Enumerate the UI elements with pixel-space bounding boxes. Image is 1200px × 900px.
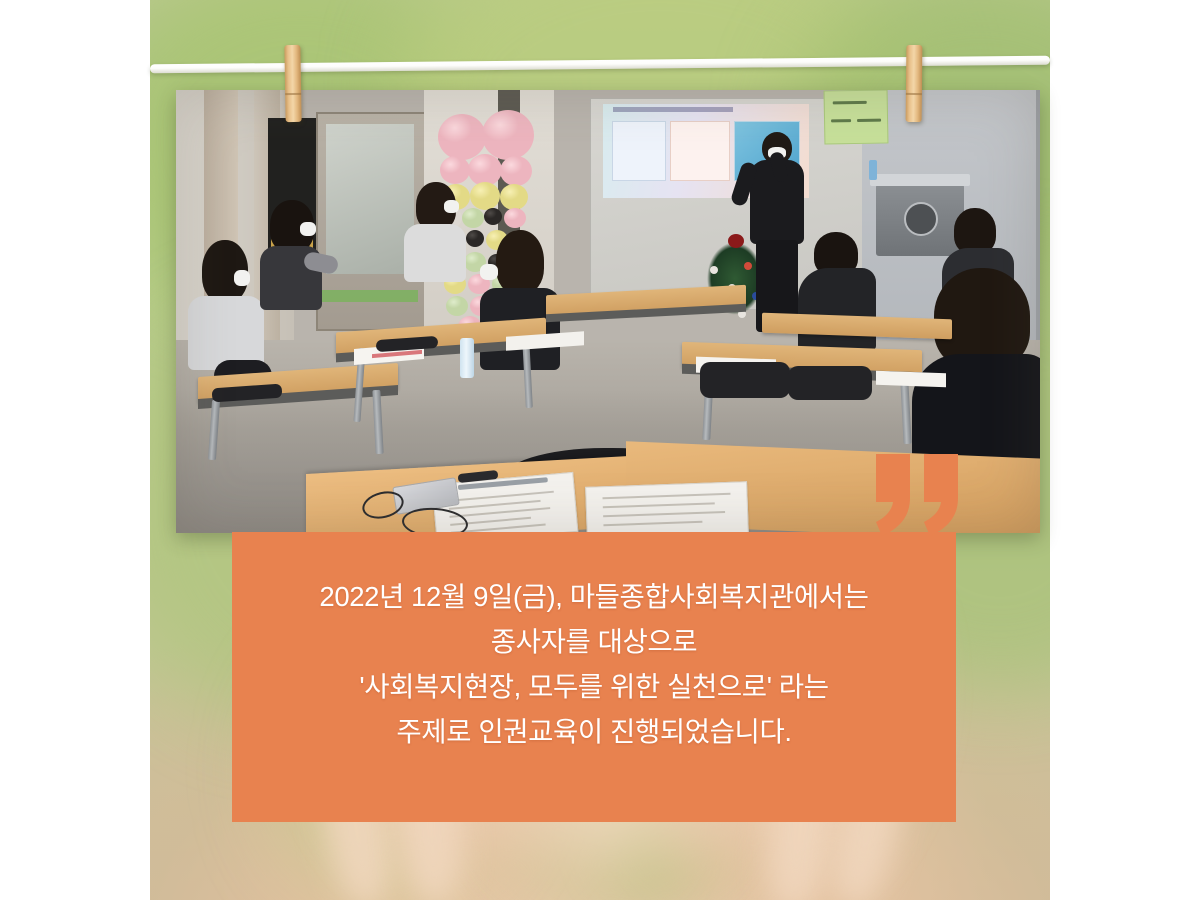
photo-water-bottle bbox=[869, 160, 877, 180]
caption-text: 2022년 12월 9일(금), 마들종합사회복지관에서는 종사자를 대상으로 … bbox=[232, 574, 956, 780]
caption-box: 2022년 12월 9일(금), 마들종합사회복지관에서는 종사자를 대상으로 … bbox=[232, 532, 956, 822]
caption-line-2: 종사자를 대상으로 bbox=[232, 619, 956, 664]
quote-mark-icon bbox=[874, 452, 962, 538]
photo-wall-sign bbox=[824, 90, 889, 145]
photo-av-cart-top bbox=[870, 174, 970, 186]
photo-chair bbox=[788, 366, 872, 400]
photo-slide-title bbox=[613, 107, 733, 112]
photo-slide-panel bbox=[612, 121, 666, 181]
photo-paper bbox=[876, 371, 946, 387]
letterbox-bar-left bbox=[0, 0, 150, 900]
clothespin-right-icon bbox=[906, 45, 923, 122]
photo-water-bottle bbox=[460, 338, 474, 378]
photo-attendee bbox=[400, 182, 478, 302]
photo-chair bbox=[700, 362, 790, 398]
clothespin-left-icon bbox=[284, 45, 301, 122]
caption-line-1: 2022년 12월 9일(금), 마들종합사회복지관에서는 bbox=[232, 574, 956, 619]
photo-attendee bbox=[254, 200, 340, 340]
card-stage: 2022년 12월 9일(금), 마들종합사회복지관에서는 종사자를 대상으로 … bbox=[0, 0, 1200, 900]
photo-slide-panel bbox=[670, 121, 730, 181]
letterbox-bar-right bbox=[1050, 0, 1200, 900]
caption-line-3: '사회복지현장, 모두를 위한 실천으로' 라는 bbox=[232, 664, 956, 709]
caption-line-4: 주제로 인권교육이 진행되었습니다. bbox=[232, 709, 956, 754]
photo-clipboard bbox=[585, 481, 749, 533]
